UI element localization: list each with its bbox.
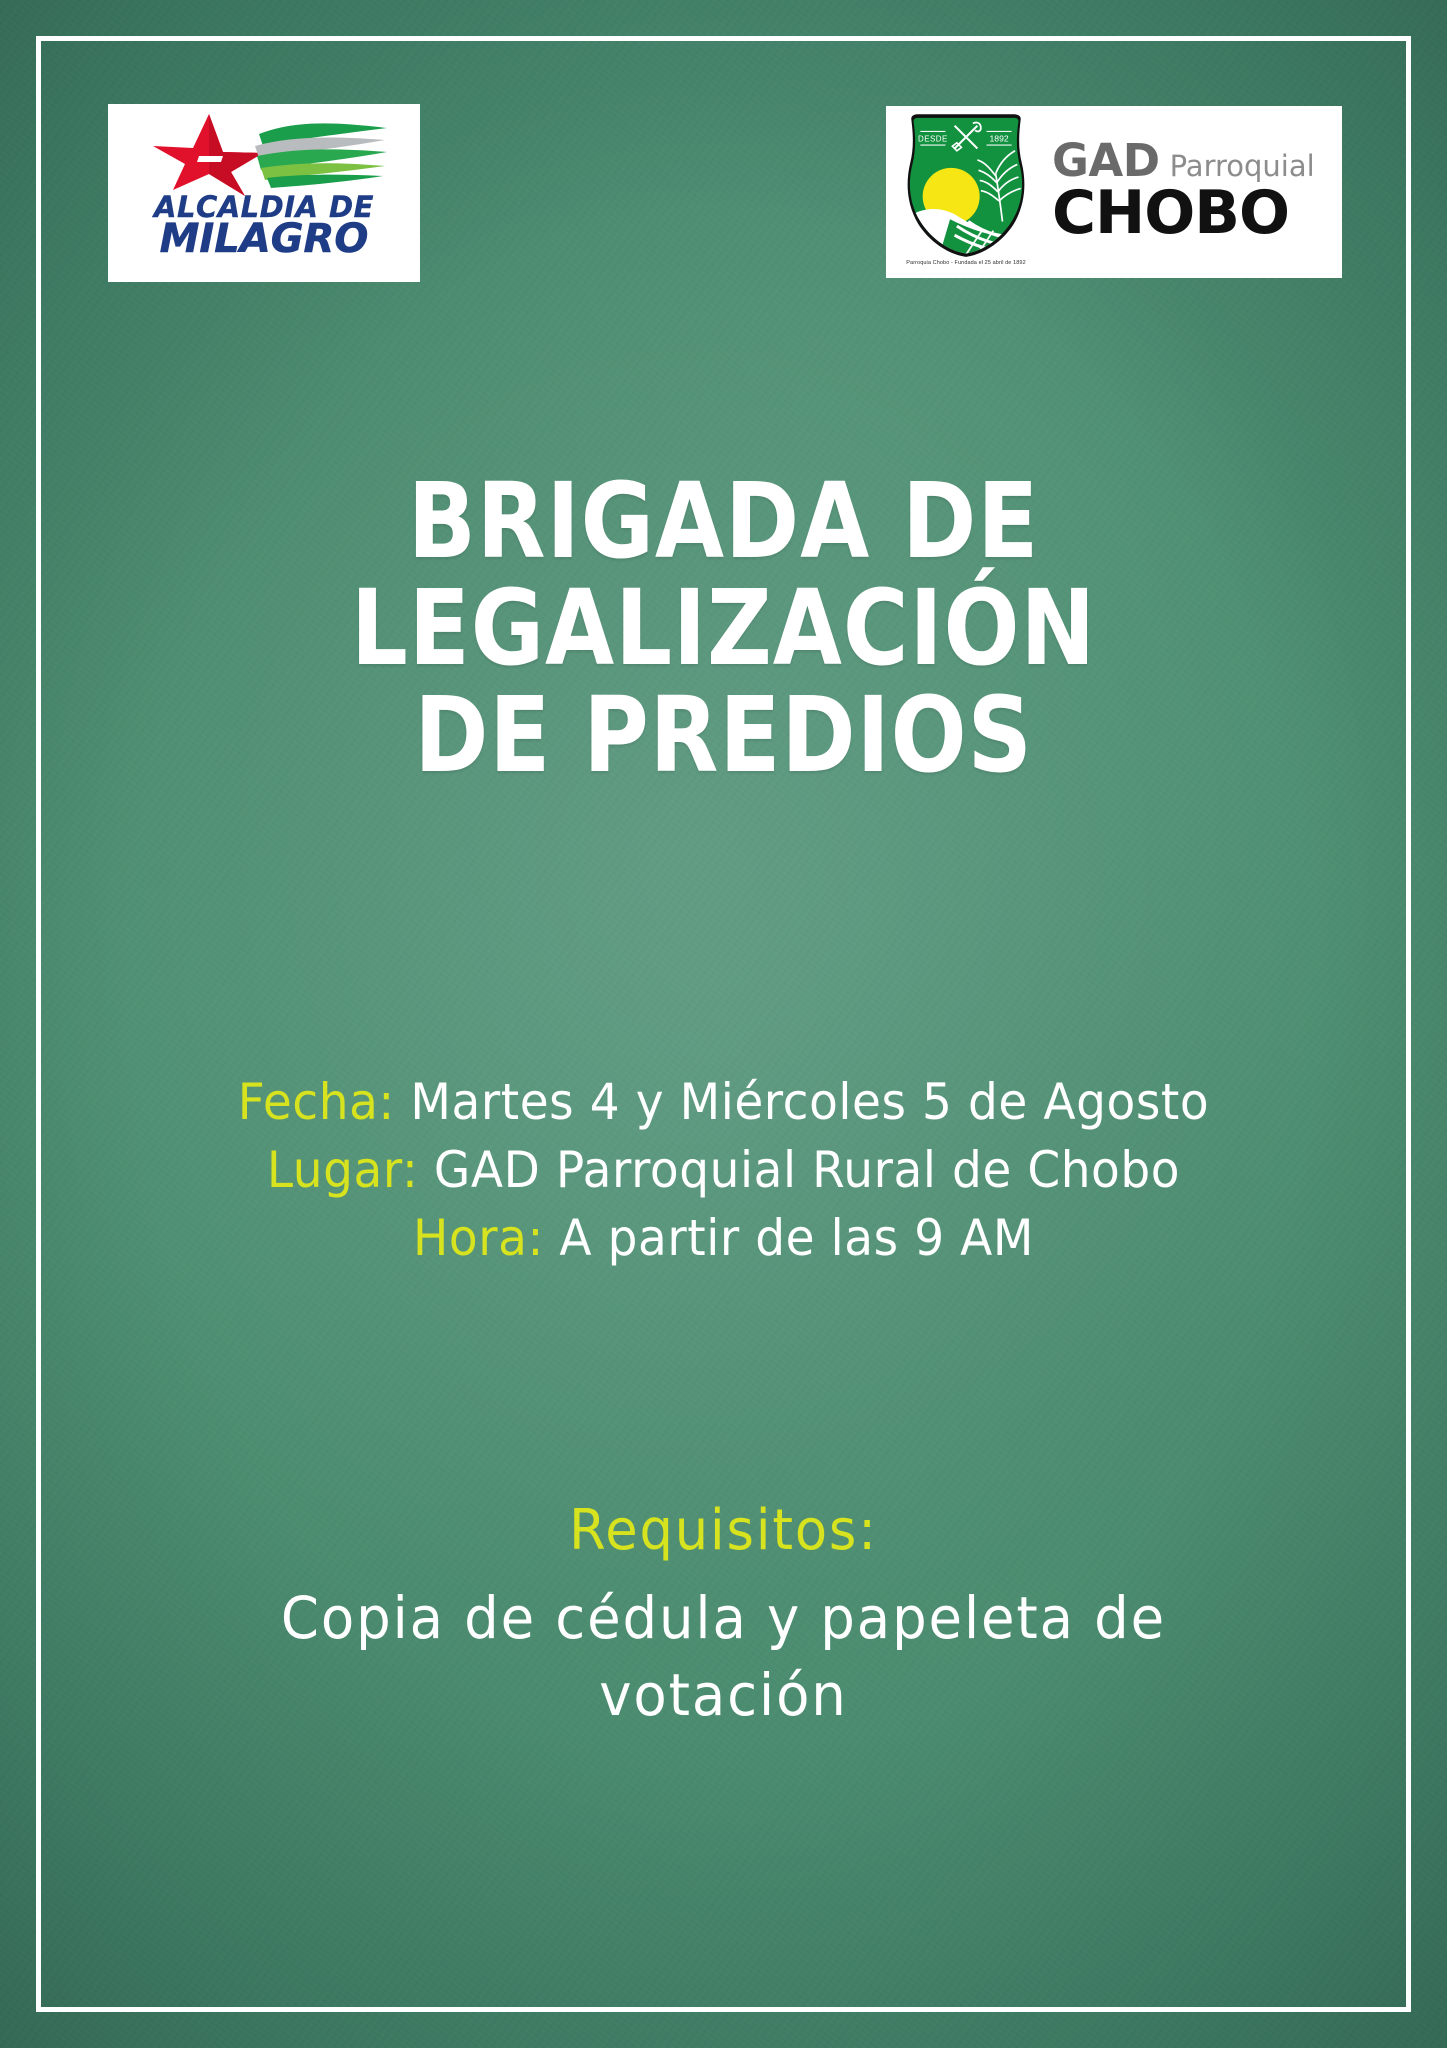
svg-text:DESDE: DESDE bbox=[918, 135, 948, 144]
poster-canvas: ALCALDIA DE MILAGRO bbox=[0, 0, 1447, 2048]
detail-lugar: Lugar: GAD Parroquial Rural de Chobo bbox=[213, 1136, 1235, 1204]
event-details: Fecha: Martes 4 y Miércoles 5 de Agosto … bbox=[213, 1068, 1235, 1272]
chobo-logo-text: GAD Parroquial CHOBO bbox=[1046, 138, 1342, 246]
hora-label: Hora: bbox=[413, 1209, 544, 1267]
fecha-value: Martes 4 y Miércoles 5 de Agosto bbox=[395, 1073, 1209, 1131]
alcaldia-logo-text: ALCALDIA DE MILAGRO bbox=[154, 194, 374, 257]
gad-parroquial-row: GAD Parroquial bbox=[1052, 138, 1342, 183]
gad-word: GAD bbox=[1052, 138, 1160, 183]
chobo-word: CHOBO bbox=[1052, 185, 1342, 242]
fecha-label: Fecha: bbox=[238, 1073, 395, 1131]
alcaldia-logo-mark bbox=[135, 112, 393, 198]
svg-text:1892: 1892 bbox=[989, 134, 1008, 144]
lugar-label: Lugar: bbox=[267, 1141, 419, 1199]
poster-content: ALCALDIA DE MILAGRO bbox=[0, 0, 1447, 2048]
chobo-shield-wrap: DESDE 1892 Parroquia Chobo - Fundada el … bbox=[886, 108, 1046, 276]
alcaldia-de-milagro-logo: ALCALDIA DE MILAGRO bbox=[108, 104, 420, 282]
requisitos-heading: Requisitos: bbox=[43, 1498, 1403, 1563]
alcaldia-logo-line2: MILAGRO bbox=[154, 221, 374, 258]
lugar-value: GAD Parroquial Rural de Chobo bbox=[418, 1141, 1180, 1199]
page-title: BRIGADA DE LEGALIZACIÓN DE PREDIOS bbox=[101, 468, 1345, 789]
title-line-3: DE PREDIOS bbox=[101, 682, 1345, 789]
gad-parroquial-chobo-logo: DESDE 1892 Parroquia Chobo - Fundada el … bbox=[886, 106, 1342, 278]
chobo-shield-icon: DESDE 1892 bbox=[897, 112, 1035, 258]
parroquial-word: Parroquial bbox=[1170, 152, 1315, 181]
title-line-2: LEGALIZACIÓN bbox=[101, 575, 1345, 682]
detail-fecha: Fecha: Martes 4 y Miércoles 5 de Agosto bbox=[213, 1068, 1235, 1136]
chobo-shield-caption: Parroquia Chobo - Fundada el 25 abril de… bbox=[906, 260, 1025, 266]
detail-hora: Hora: A partir de las 9 AM bbox=[213, 1204, 1235, 1272]
title-line-1: BRIGADA DE bbox=[101, 468, 1345, 575]
hora-value: A partir de las 9 AM bbox=[544, 1209, 1034, 1267]
star-and-swoosh-icon bbox=[135, 112, 393, 198]
requisitos-body: Copia de cédula y papeleta de votación bbox=[194, 1580, 1253, 1733]
